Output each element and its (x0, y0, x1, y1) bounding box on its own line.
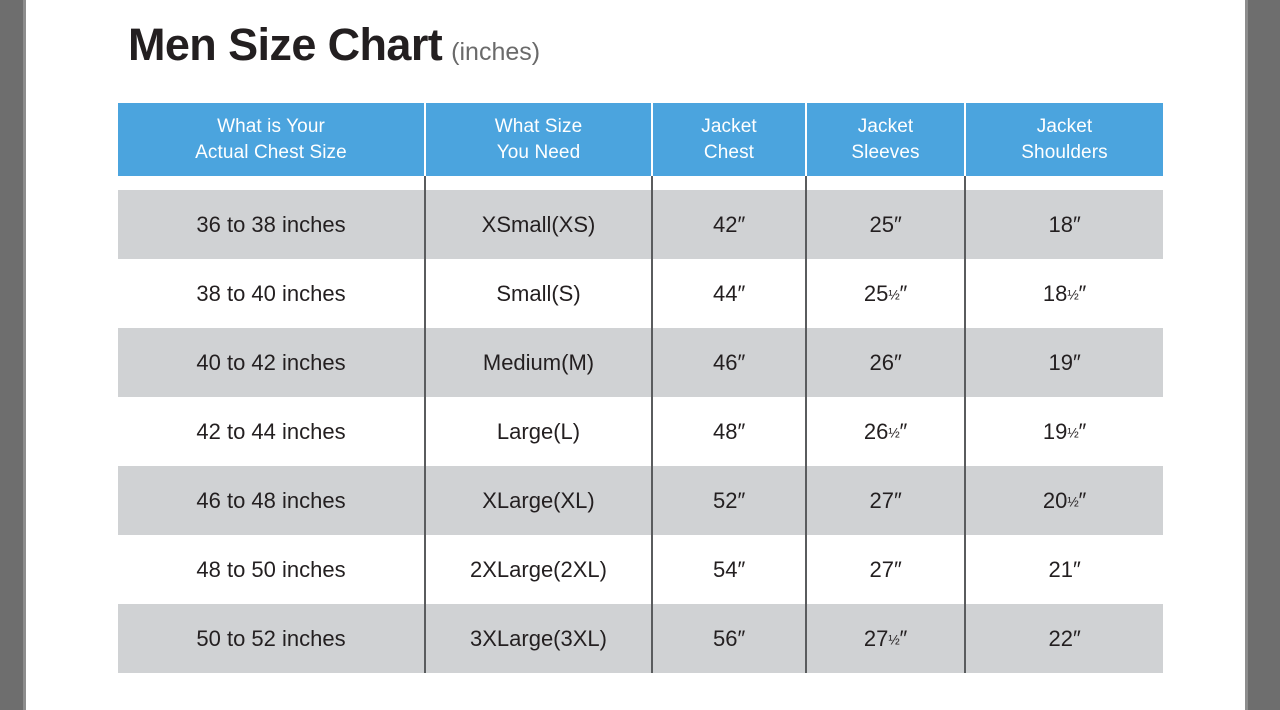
cell-jacket-chest: 42″ (652, 190, 806, 259)
inch-mark: ″ (1079, 281, 1087, 306)
inch-mark: ″ (737, 212, 745, 237)
table-header-gap (118, 176, 1163, 190)
inch-mark: ″ (1073, 626, 1081, 651)
column-header-line1: What Size (430, 114, 647, 139)
cell-jacket-sleeves: 27½″ (806, 604, 965, 673)
cell-jacket-sleeves: 27″ (806, 466, 965, 535)
inch-mark: ″ (894, 488, 902, 513)
column-header-line2: Shoulders (970, 140, 1159, 165)
cell-jacket-sleeves: 25½″ (806, 259, 965, 328)
column-header-size-you-need: What Size You Need (425, 103, 652, 176)
letterbox-band-right (1245, 0, 1280, 710)
inch-mark: ″ (737, 626, 745, 651)
cell-size-name: Small(S) (425, 259, 652, 328)
column-header-line2: Actual Chest Size (122, 140, 420, 165)
column-header-line1: Jacket (970, 114, 1159, 139)
cell-jacket-sleeves: 25″ (806, 190, 965, 259)
fraction-half: ½ (888, 287, 899, 302)
column-header-jacket-chest: Jacket Chest (652, 103, 806, 176)
table-row: 46 to 48 inchesXLarge(XL)52″27″20½″ (118, 466, 1163, 535)
inch-mark: ″ (900, 419, 908, 444)
fraction-half: ½ (888, 632, 899, 647)
table-row: 42 to 44 inchesLarge(L)48″26½″19½″ (118, 397, 1163, 466)
cell-jacket-chest: 52″ (652, 466, 806, 535)
cell-jacket-chest: 48″ (652, 397, 806, 466)
cell-jacket-sleeves: 27″ (806, 535, 965, 604)
column-header-actual-chest-size: What is Your Actual Chest Size (118, 103, 425, 176)
cell-jacket-sleeves: 26″ (806, 328, 965, 397)
fraction-half: ½ (888, 425, 899, 440)
cell-size-name: XSmall(XS) (425, 190, 652, 259)
fraction-half: ½ (1067, 494, 1078, 509)
cell-jacket-chest: 44″ (652, 259, 806, 328)
column-header-line1: Jacket (811, 114, 960, 139)
column-header-line2: You Need (430, 140, 647, 165)
cell-jacket-chest: 46″ (652, 328, 806, 397)
cell-chest-range: 46 to 48 inches (118, 466, 425, 535)
inch-mark: ″ (1079, 419, 1087, 444)
column-header-line2: Sleeves (811, 140, 960, 165)
cell-size-name: 3XLarge(3XL) (425, 604, 652, 673)
inch-mark: ″ (894, 212, 902, 237)
cell-size-name: Large(L) (425, 397, 652, 466)
inch-mark: ″ (737, 419, 745, 444)
page-title: Men Size Chart (inches) (128, 22, 540, 67)
size-chart-page: Men Size Chart (inches) What is Your Act… (26, 0, 1245, 710)
inch-mark: ″ (1073, 350, 1081, 375)
size-chart-table: What is Your Actual Chest Size What Size… (118, 103, 1163, 673)
inch-mark: ″ (737, 281, 745, 306)
cell-chest-range: 38 to 40 inches (118, 259, 425, 328)
column-header-jacket-sleeves: Jacket Sleeves (806, 103, 965, 176)
inch-mark: ″ (900, 626, 908, 651)
cell-chest-range: 48 to 50 inches (118, 535, 425, 604)
inch-mark: ″ (1073, 212, 1081, 237)
page-title-main: Men Size Chart (128, 22, 442, 67)
column-header-line1: Jacket (657, 114, 801, 139)
cell-jacket-shoulders: 19″ (965, 328, 1163, 397)
cell-chest-range: 50 to 52 inches (118, 604, 425, 673)
cell-jacket-shoulders: 18″ (965, 190, 1163, 259)
cell-chest-range: 36 to 38 inches (118, 190, 425, 259)
page-title-units: (inches) (451, 40, 540, 65)
cell-chest-range: 42 to 44 inches (118, 397, 425, 466)
cell-jacket-chest: 56″ (652, 604, 806, 673)
table-row: 40 to 42 inchesMedium(M)46″26″19″ (118, 328, 1163, 397)
cell-jacket-shoulders: 18½″ (965, 259, 1163, 328)
table-row: 36 to 38 inchesXSmall(XS)42″25″18″ (118, 190, 1163, 259)
inch-mark: ″ (737, 557, 745, 582)
cell-size-name: XLarge(XL) (425, 466, 652, 535)
cell-size-name: Medium(M) (425, 328, 652, 397)
cell-jacket-shoulders: 19½″ (965, 397, 1163, 466)
table-row: 50 to 52 inches3XLarge(3XL)56″27½″22″ (118, 604, 1163, 673)
table-row: 38 to 40 inchesSmall(S)44″25½″18½″ (118, 259, 1163, 328)
inch-mark: ″ (1073, 557, 1081, 582)
table-header-row: What is Your Actual Chest Size What Size… (118, 103, 1163, 176)
inch-mark: ″ (900, 281, 908, 306)
inch-mark: ″ (737, 350, 745, 375)
cell-jacket-shoulders: 22″ (965, 604, 1163, 673)
inch-mark: ″ (1079, 488, 1087, 513)
table-body: 36 to 38 inchesXSmall(XS)42″25″18″38 to … (118, 176, 1163, 673)
fraction-half: ½ (1067, 287, 1078, 302)
cell-size-name: 2XLarge(2XL) (425, 535, 652, 604)
cell-chest-range: 40 to 42 inches (118, 328, 425, 397)
inch-mark: ″ (737, 488, 745, 513)
cell-jacket-sleeves: 26½″ (806, 397, 965, 466)
cell-jacket-shoulders: 20½″ (965, 466, 1163, 535)
inch-mark: ″ (894, 350, 902, 375)
cell-jacket-shoulders: 21″ (965, 535, 1163, 604)
column-header-jacket-shoulders: Jacket Shoulders (965, 103, 1163, 176)
column-header-line2: Chest (657, 140, 801, 165)
table-header: What is Your Actual Chest Size What Size… (118, 103, 1163, 176)
column-header-line1: What is Your (122, 114, 420, 139)
fraction-half: ½ (1067, 425, 1078, 440)
letterbox-band-left (0, 0, 26, 710)
table-row: 48 to 50 inches2XLarge(2XL)54″27″21″ (118, 535, 1163, 604)
cell-jacket-chest: 54″ (652, 535, 806, 604)
screenshot-canvas: Men Size Chart (inches) What is Your Act… (0, 0, 1280, 710)
inch-mark: ″ (894, 557, 902, 582)
letterbox-edge-right (1245, 0, 1248, 710)
